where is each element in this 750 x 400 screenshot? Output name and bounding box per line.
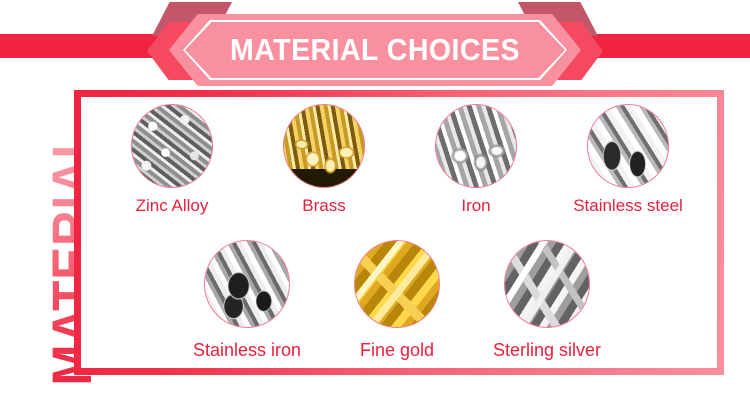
zinc-alloy-granules-photo <box>131 104 213 188</box>
material-item-zinc-alloy[interactable]: Zinc Alloy <box>96 104 248 216</box>
silver-ingots-photo <box>504 240 590 328</box>
gold-bars-photo <box>354 240 440 328</box>
material-item-sterling-silver[interactable]: Sterling silver <box>472 240 622 361</box>
stainless-iron-tubes-photo <box>204 240 290 328</box>
material-label: Sterling silver <box>493 340 601 361</box>
material-item-stainless-steel[interactable]: Stainless steel <box>552 104 704 216</box>
material-label: Stainless steel <box>573 196 683 216</box>
material-row-2: Stainless iron Fine gold Sterling silver <box>172 240 624 361</box>
material-label: Fine gold <box>360 340 434 361</box>
material-label: Iron <box>461 196 490 216</box>
stainless-steel-tubes-photo <box>587 104 669 188</box>
material-item-fine-gold[interactable]: Fine gold <box>322 240 472 361</box>
iron-bars-photo <box>435 104 517 188</box>
brass-rods-photo <box>283 104 365 188</box>
page-title: MATERIAL CHOICES <box>185 14 564 86</box>
material-item-stainless-iron[interactable]: Stainless iron <box>172 240 322 361</box>
material-item-brass[interactable]: Brass <box>248 104 400 216</box>
material-item-iron[interactable]: Iron <box>400 104 552 216</box>
material-row-1: Zinc Alloy Brass Iron Stainless steel <box>96 104 704 216</box>
material-label: Brass <box>302 196 345 216</box>
material-label: Zinc Alloy <box>136 196 209 216</box>
material-label: Stainless iron <box>193 340 301 361</box>
material-choices-banner: MATERIAL CHOICES MATERIAL Zinc Alloy Bra… <box>0 0 750 400</box>
